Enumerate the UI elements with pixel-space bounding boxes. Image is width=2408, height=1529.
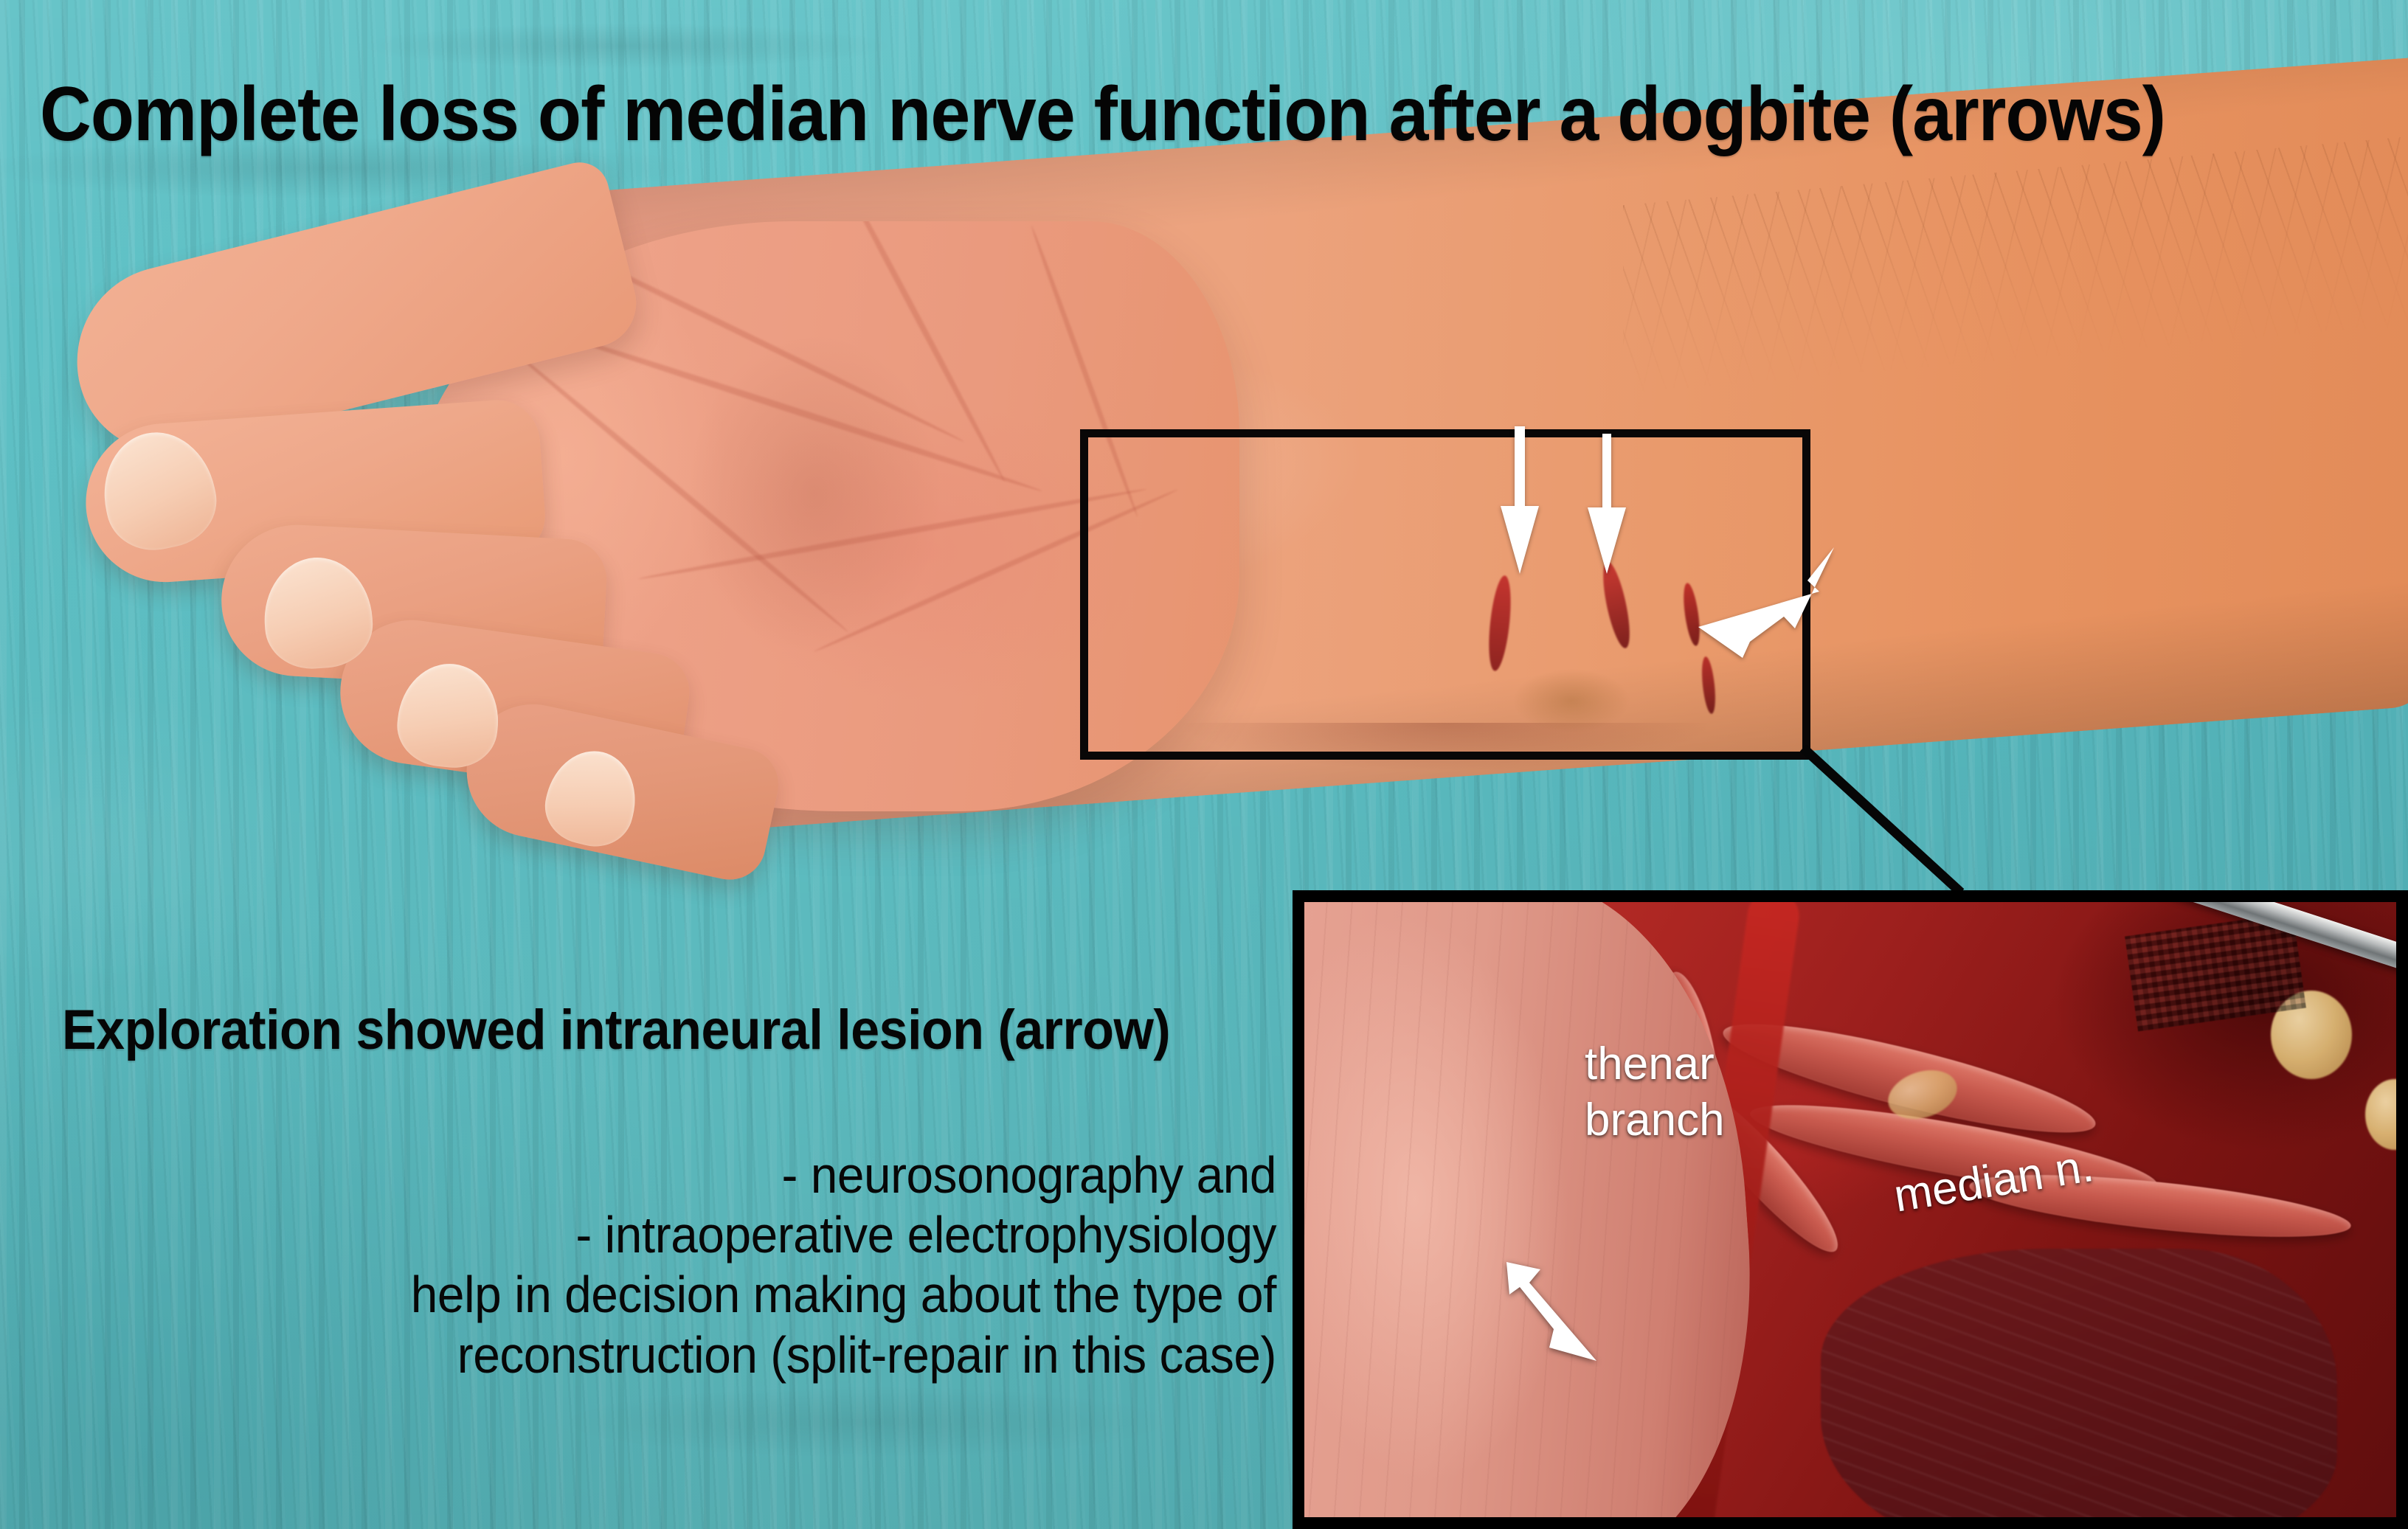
bite-wound-arrow-3 bbox=[1697, 546, 1837, 664]
bite-wound-arrow-1 bbox=[1490, 426, 1549, 574]
presentation-slide: Complete loss of median nerve function a… bbox=[0, 0, 2408, 1529]
body-text-block: - neurosonography and - intraoperative e… bbox=[229, 1145, 1276, 1385]
thenar-branch-label-line1: thenar bbox=[1585, 1036, 1725, 1092]
page-title: Complete loss of median nerve function a… bbox=[40, 71, 2165, 159]
body-line-1: - neurosonography and bbox=[229, 1145, 1276, 1205]
body-line-4: reconstruction (split-repair in this cas… bbox=[229, 1325, 1276, 1385]
intraoperative-photo: thenar branch median n. bbox=[1304, 902, 2396, 1517]
body-line-3: help in decision making about the type o… bbox=[229, 1265, 1276, 1325]
bite-wound-arrow-2 bbox=[1577, 434, 1636, 574]
thenar-branch-label-line2: branch bbox=[1585, 1092, 1725, 1148]
intraoperative-inset-frame: thenar branch median n. bbox=[1293, 890, 2408, 1529]
intraneural-lesion-arrow bbox=[1502, 1256, 1605, 1370]
exploration-subtitle: Exploration showed intraneural lesion (a… bbox=[62, 998, 1170, 1062]
thenar-branch-label: thenar branch bbox=[1585, 1036, 1725, 1148]
body-line-2: - intraoperative electrophysiology bbox=[229, 1205, 1276, 1265]
thenar-eminence-shading bbox=[649, 266, 1062, 723]
deep-muscle-tissue bbox=[1821, 1249, 2337, 1517]
